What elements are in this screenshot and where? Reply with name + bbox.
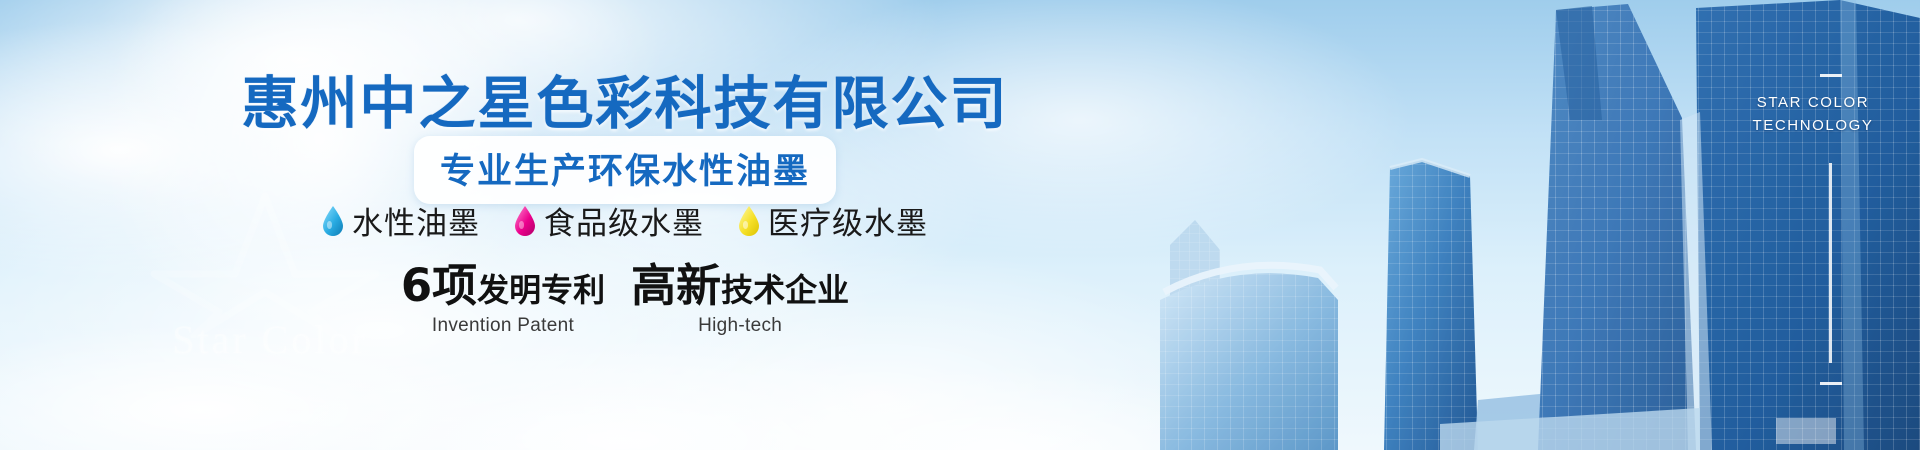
tower-brand-label: STAR COLOR TECHNOLOGY	[1738, 92, 1888, 137]
tower-brand-line2: TECHNOLOGY	[1738, 115, 1888, 138]
water-drop-icon	[738, 205, 760, 236]
honor-sub-0: Invention Patent	[401, 315, 605, 337]
banner-content: 惠州中之星色彩科技有限公司 专业生产环保水性油墨 水性油墨	[0, 0, 1250, 450]
honor-sub-1: High-tech	[631, 315, 849, 337]
honor-item-0: 6项发明专利 Invention Patent	[401, 262, 605, 337]
honor-small-1: 技术企业	[721, 271, 849, 309]
tower-tick-bottom	[1820, 382, 1842, 385]
feature-list: 水性油墨 食品级水墨	[0, 198, 1250, 243]
tagline-badge-wrap: 专业生产环保水性油墨	[0, 136, 1250, 204]
feature-item-1: 食品级水墨	[514, 198, 704, 243]
tower-tick-line	[1829, 163, 1832, 363]
honor-big-1: 高新	[631, 259, 721, 312]
honor-small-0: 发明专利	[477, 271, 605, 309]
feature-label-1: 食品级水墨	[544, 198, 704, 243]
company-title: 惠州中之星色彩科技有限公司	[0, 58, 1250, 140]
tower-tick-top	[1820, 74, 1842, 77]
honor-item-1: 高新技术企业 High-tech	[631, 262, 849, 337]
water-drop-icon	[322, 205, 344, 236]
feature-item-0: 水性油墨	[322, 198, 480, 243]
honor-list: 6项发明专利 Invention Patent 高新技术企业 High-tech	[0, 262, 1250, 337]
feature-item-2: 医疗级水墨	[738, 198, 928, 243]
honor-main-0: 6项发明专利	[401, 262, 605, 311]
tagline-badge: 专业生产环保水性油墨	[414, 136, 836, 204]
feature-label-0: 水性油墨	[352, 198, 480, 243]
promo-banner: Star Color	[0, 0, 1920, 450]
city-skyline-image	[1140, 0, 1920, 450]
honor-main-1: 高新技术企业	[631, 262, 849, 311]
tower-brand-line1: STAR COLOR	[1738, 92, 1888, 115]
honor-big-0: 6项	[401, 259, 477, 312]
water-drop-icon	[514, 205, 536, 236]
feature-label-2: 医疗级水墨	[768, 198, 928, 243]
